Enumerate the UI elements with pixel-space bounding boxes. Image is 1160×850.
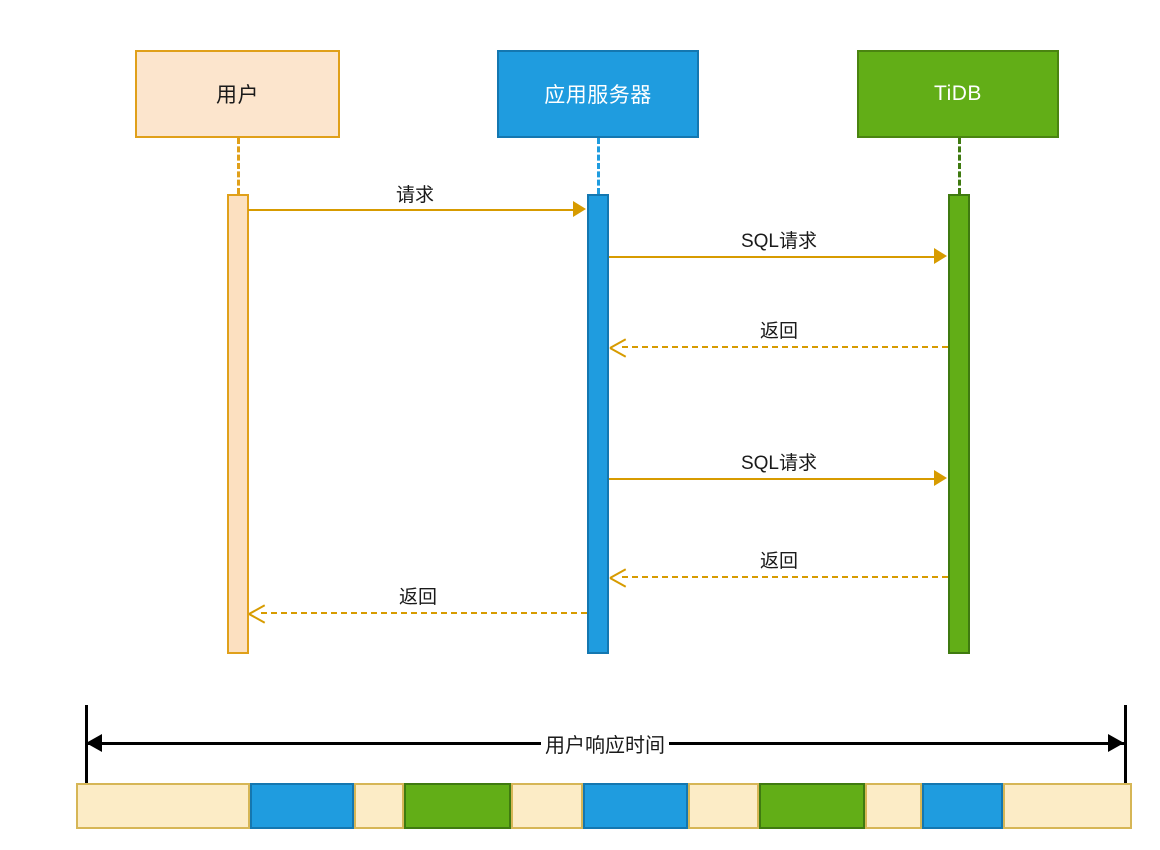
message-line-return-1 [622, 346, 948, 348]
message-label-return-1: 返回 [760, 316, 798, 343]
message-arrowhead-sql-request-1 [934, 248, 947, 264]
timeline-segment-idle [511, 783, 583, 829]
message-arrowhead-sql-request-2 [934, 470, 947, 486]
timeline-segment-idle [76, 783, 250, 829]
message-label-return-2: 返回 [760, 546, 798, 573]
message-arrowhead-return-1 [610, 337, 626, 357]
message-line-sql-request-1 [609, 256, 934, 258]
message-line-sql-request-2 [609, 478, 934, 480]
message-arrowhead-request [573, 201, 586, 217]
timespan-label: 用户响应时间 [541, 729, 669, 758]
timeline-segment-db [404, 783, 511, 829]
timeline-segment-app [583, 783, 689, 829]
timeline-segment-app [250, 783, 353, 829]
activation-bar-user [227, 194, 249, 654]
message-label-sql-request-2: SQL请求 [741, 448, 817, 475]
timeline-segment-idle [1003, 783, 1132, 829]
activation-bar-app-server [587, 194, 609, 654]
lifeline-tidb [958, 138, 961, 194]
participant-label-app-server: 应用服务器 [544, 79, 652, 109]
timeline-segment-idle [688, 783, 759, 829]
timeline-segment-app [922, 783, 1003, 829]
timespan-tick-end [1124, 705, 1127, 785]
message-arrowhead-return-2 [610, 567, 626, 587]
response-time-timeline [76, 783, 1132, 829]
message-label-return-3: 返回 [399, 582, 437, 609]
participant-label-user: 用户 [216, 79, 259, 109]
participant-label-tidb: TiDB [934, 82, 982, 106]
participant-box-app-server: 应用服务器 [497, 50, 699, 138]
timeline-segment-idle [354, 783, 405, 829]
message-arrowhead-return-3 [249, 603, 265, 623]
sequence-diagram-canvas: 用户 应用服务器 TiDB 请求 SQL请求 返回 SQL请求 返回 返回 用户… [0, 0, 1160, 850]
message-label-request: 请求 [396, 180, 434, 207]
lifeline-app-server [597, 138, 600, 194]
timeline-segment-db [759, 783, 865, 829]
timespan-arrowhead-left [86, 734, 102, 752]
message-line-request [248, 209, 573, 211]
message-line-return-3 [261, 612, 587, 614]
timeline-segment-idle [865, 783, 922, 829]
timespan-arrowhead-right [1108, 734, 1124, 752]
activation-bar-tidb [948, 194, 970, 654]
message-line-return-2 [622, 576, 948, 578]
lifeline-user [237, 138, 240, 194]
participant-box-user: 用户 [135, 50, 340, 138]
participant-box-tidb: TiDB [857, 50, 1059, 138]
message-label-sql-request-1: SQL请求 [741, 226, 817, 253]
